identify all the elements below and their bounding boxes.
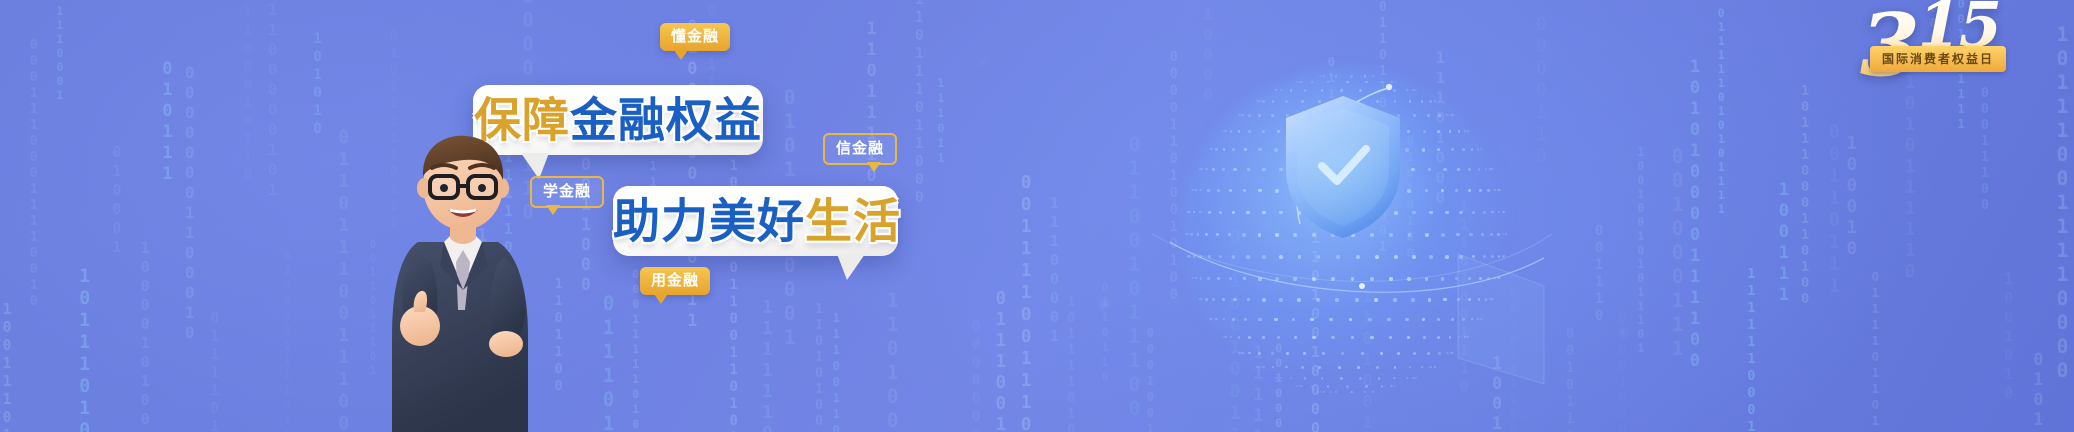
businessman-thumbs-up-figure xyxy=(378,130,548,432)
binary-column: 0000000010 xyxy=(967,318,984,432)
shield-glow xyxy=(1240,58,1446,278)
binary-column: 1010111110 xyxy=(1899,73,1920,283)
binary-column: 1100000101 xyxy=(262,0,281,200)
binary-column: 00011100011110010 xyxy=(25,38,41,310)
binary-column: 100100101011101 xyxy=(1634,146,1647,356)
headline-secondary-text: 助力美好生活 xyxy=(613,198,898,245)
binary-column: 01111011011010101 xyxy=(1868,269,1883,432)
binary-column: 0100001111011111 xyxy=(281,248,295,432)
finance-consumer-rights-banner: 1001110100110001110001111001011100011011… xyxy=(0,0,2074,432)
headline-bubble-secondary: 助力美好生活 xyxy=(613,186,898,256)
binary-column: 01011001010010010 xyxy=(2028,350,2048,432)
binary-column: 001110 xyxy=(1590,223,1607,325)
binary-column: 011101 xyxy=(597,292,620,432)
binary-column: 0110110 xyxy=(1097,280,1111,385)
binary-column: 001000111 xyxy=(1666,145,1689,361)
binary-column: 00000001100010 xyxy=(180,63,199,343)
binary-column: 011100100111 xyxy=(990,289,1011,432)
binary-column: 011110111000000 xyxy=(206,310,223,432)
headline-secondary-gold: 生活 xyxy=(805,195,901,248)
headline-primary-blue: 金融权益 xyxy=(570,94,762,147)
binary-column: 1101100 xyxy=(551,276,567,395)
binary-column: 10111000110100 xyxy=(1797,84,1813,308)
binary-column: 100111 xyxy=(1774,180,1794,306)
binary-column: 0110111011000 xyxy=(910,0,927,207)
binary-column: 11100001 xyxy=(1045,194,1063,346)
binary-column: 00011100 xyxy=(1977,86,1992,214)
binary-column: 11010100 xyxy=(811,302,827,430)
binary-column: 0110111001110010 xyxy=(333,127,354,432)
shield-check-icon xyxy=(1278,92,1408,242)
tag-yong-jinrong: 用金融 xyxy=(640,267,710,295)
logo-315: 315 国际消费者权益日 xyxy=(1714,0,2014,104)
binary-column: 0011110011101001 xyxy=(1016,172,1037,432)
logo-number: 315 xyxy=(1860,0,2000,90)
binary-column: 1111110010011110 xyxy=(756,298,777,432)
binary-column: 11111100011110111 xyxy=(1743,266,1759,432)
tag-dong-jinrong: 懂金融 xyxy=(660,23,730,51)
binary-column: 110100011011 xyxy=(880,289,903,432)
binary-column: 1110001 xyxy=(53,5,66,103)
bokeh-dot xyxy=(1100,300,1108,308)
binary-column: 101010 xyxy=(309,30,326,138)
binary-column: 010111 xyxy=(157,59,177,185)
binary-column: 100010 xyxy=(1841,134,1862,260)
binary-column: 101010000111100 xyxy=(1685,57,1705,372)
binary-column: 10111101001 xyxy=(1063,295,1079,432)
binary-column: 100111010011 xyxy=(0,301,16,432)
binary-column: 00110111 xyxy=(1823,122,1845,298)
binary-column: 10111010000111001 xyxy=(74,266,96,432)
headline-secondary-blue: 助力美好 xyxy=(613,195,805,248)
bokeh-dot xyxy=(980,60,985,65)
tag-xin-jinrong: 信金融 xyxy=(823,133,897,165)
binary-column: 1001010 xyxy=(2000,270,2018,403)
binary-column: 11100110100 xyxy=(828,310,843,432)
binary-column: 010001 xyxy=(107,143,125,257)
bokeh-dot xyxy=(1620,330,1626,336)
binary-column: 11100010110 xyxy=(239,0,256,184)
binary-column: 100001010001 xyxy=(135,239,153,432)
binary-column: 110111101 xyxy=(861,19,881,208)
binary-column: 111011 xyxy=(934,76,948,166)
logo-subtitle-badge: 国际消费者权益日 xyxy=(1870,46,2006,72)
binary-column: 101110011110000 xyxy=(2051,23,2074,383)
